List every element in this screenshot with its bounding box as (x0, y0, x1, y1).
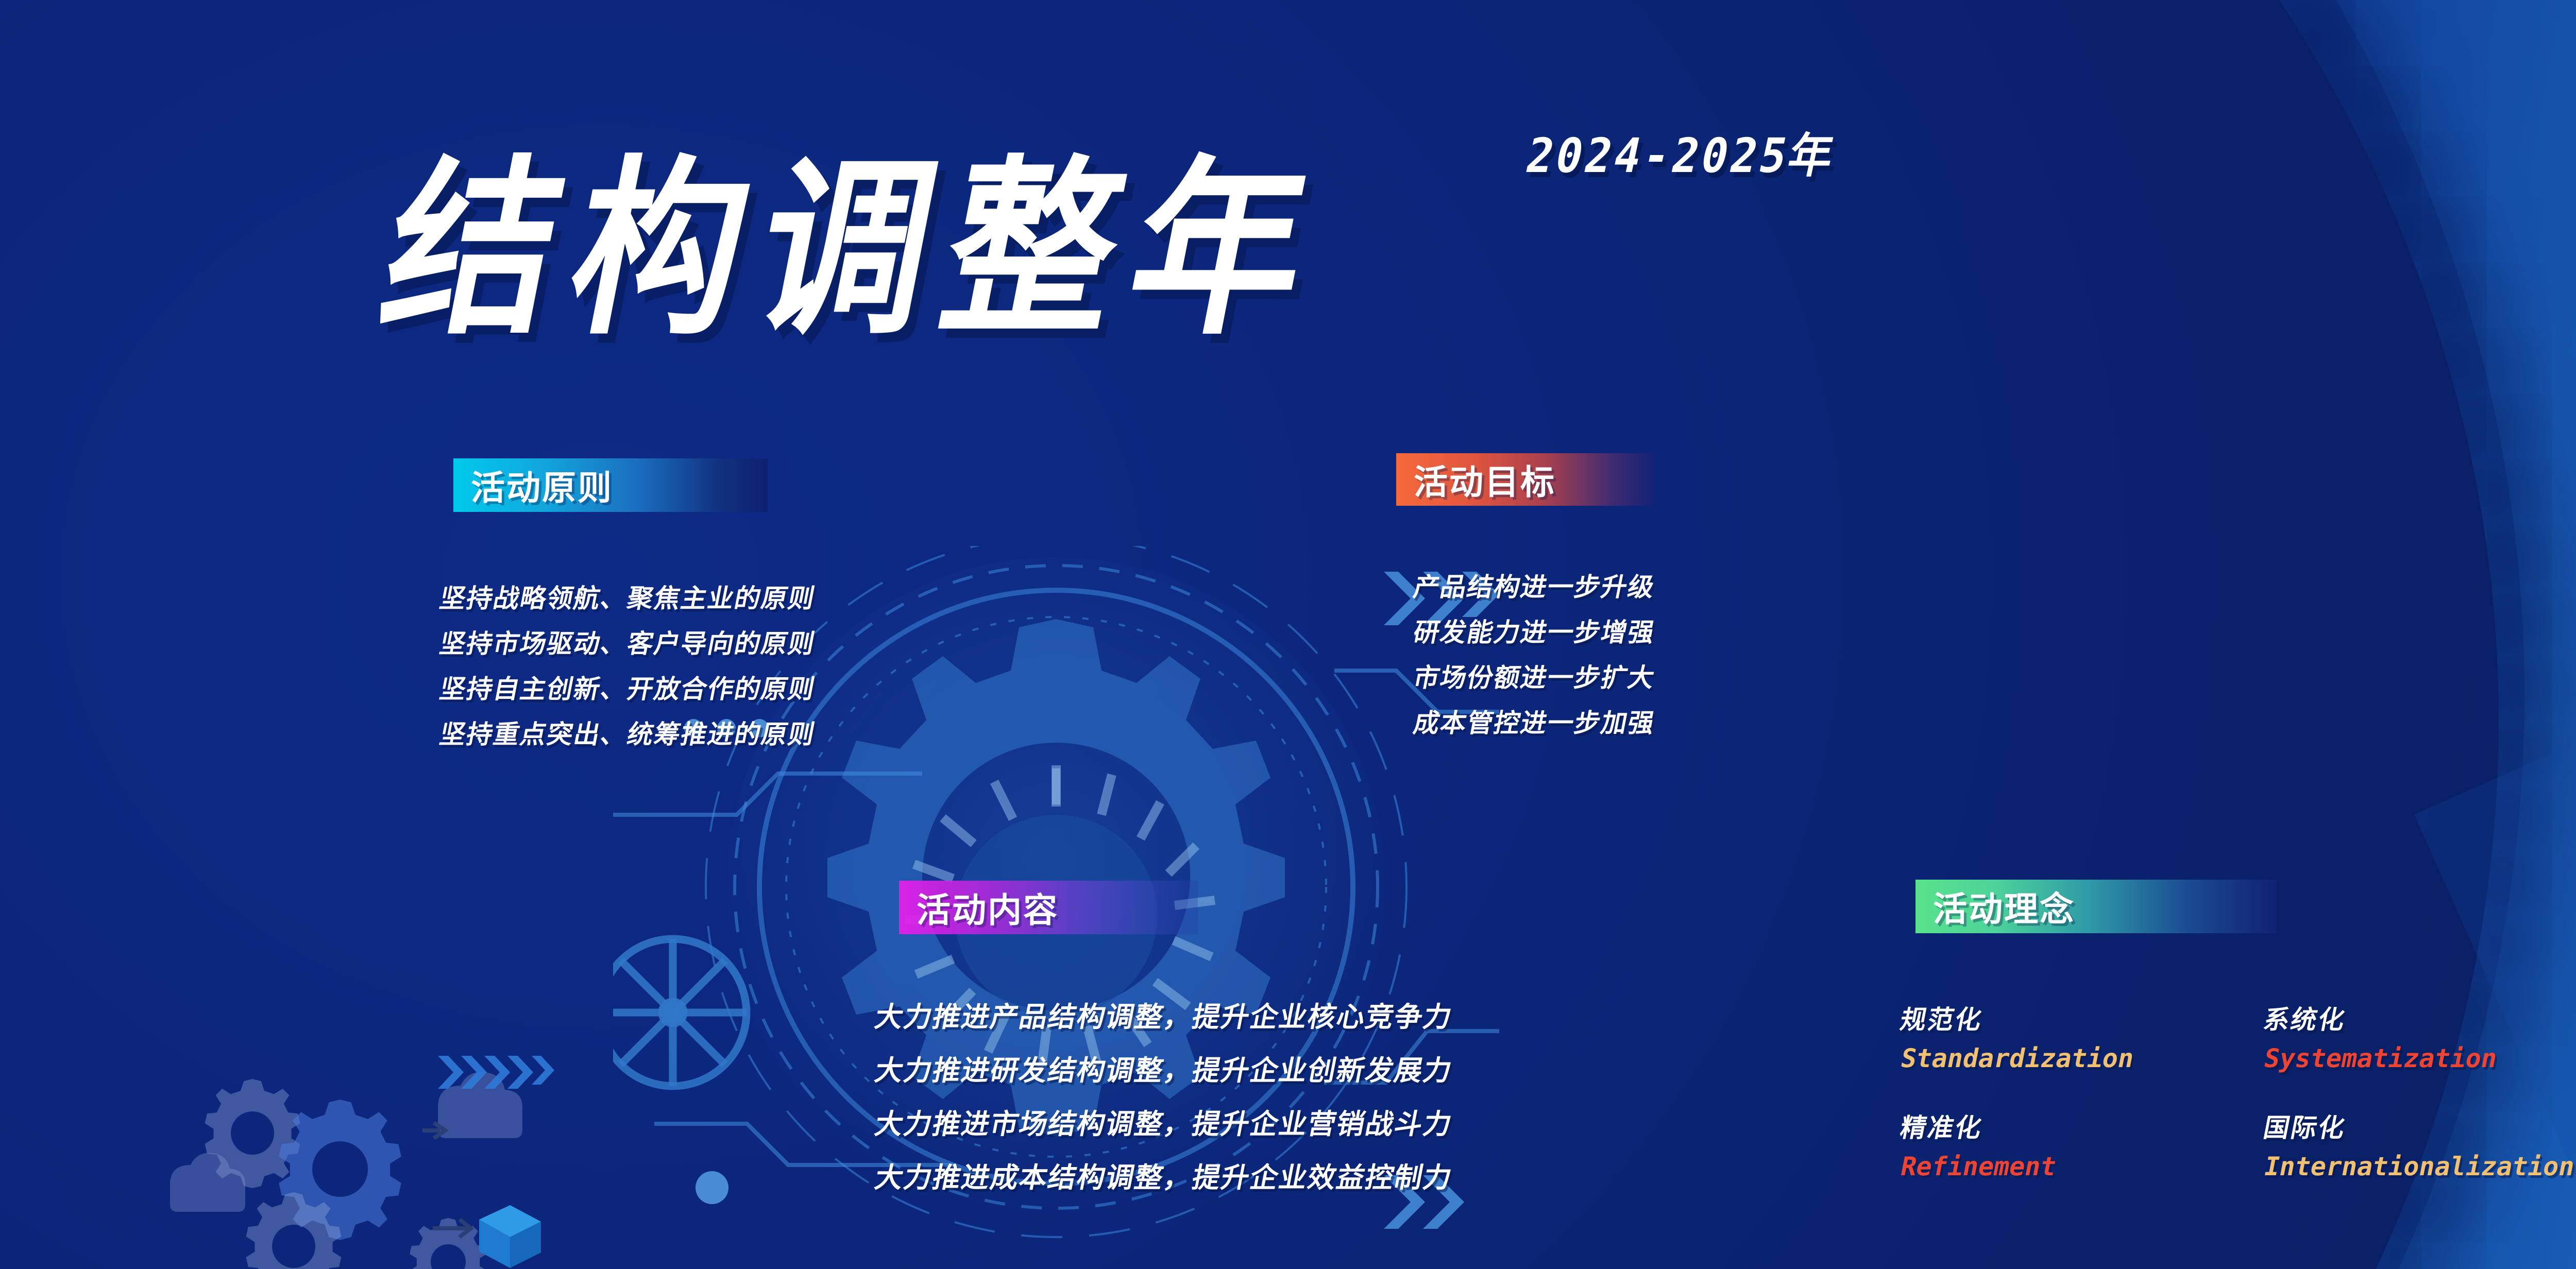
list-item: 坚持重点突出、统筹推进的原则 (437, 714, 819, 751)
slogan-rings-icon (2540, 196, 2576, 567)
list-item: 大力推进研发结构调整，提升企业创新发展力 (872, 1048, 1456, 1088)
list-item: 坚持自主创新、开放合作的原则 (437, 668, 819, 706)
badge-goals-label: 活动目标 (1414, 455, 1556, 504)
badge-goals: 活动目标 (1396, 453, 1654, 506)
list-item: 成本管控进一步加强 (1411, 702, 1659, 740)
philosophy-item-en: Systematization (2261, 1043, 2500, 1073)
philosophy-item: 国际化 Internationalization (2264, 1107, 2574, 1181)
poster-canvas: 2024-2025年 结构调整年 活动原则 坚持战略领航、聚焦主业的原则 坚持市… (0, 0, 2576, 1269)
philosophy-item-cn: 规范化 (1897, 999, 2138, 1036)
philosophy-item: 系统化 Systematization (2264, 999, 2497, 1073)
list-item: 坚持战略领航、聚焦主业的原则 (437, 578, 819, 615)
list-item: 大力推进市场结构调整，提升企业营销战斗力 (872, 1101, 1456, 1142)
philosophy-item: 精准化 Refinement (1901, 1107, 2056, 1181)
list-item: 研发能力进一步增强 (1411, 612, 1659, 649)
badge-content-label: 活动内容 (917, 883, 1059, 932)
philosophy-item-en: Standardization (1898, 1043, 2137, 1073)
badge-principles-label: 活动原则 (471, 460, 613, 510)
philosophy-item-en: Refinement (1898, 1152, 2059, 1181)
gear-cluster-icon (118, 1030, 659, 1269)
list-item: 坚持市场驱动、客户导向的原则 (437, 623, 819, 660)
philosophy-item-en: Internationalization (2261, 1152, 2576, 1181)
list-item: 大力推进成本结构调整，提升企业效益控制力 (872, 1155, 1456, 1195)
philosophy-item-cn: 系统化 (2261, 999, 2501, 1036)
badge-principles: 活动原则 (453, 458, 768, 512)
list-item: 产品结构进一步升级 (1411, 567, 1659, 604)
philosophy-item-cn: 精准化 (1897, 1107, 2060, 1144)
year-label: 2024-2025年 (1521, 117, 1844, 186)
philosophy-item: 规范化 Standardization (1901, 999, 2134, 1073)
list-item: 大力推进产品结构调整，提升企业核心竞争力 (872, 994, 1456, 1035)
badge-content: 活动内容 (899, 881, 1198, 934)
list-item: 市场份额进一步扩大 (1411, 657, 1659, 694)
philosophy-item-cn: 国际化 (2261, 1107, 2576, 1144)
badge-philosophy: 活动理念 (1916, 880, 2276, 933)
page-title: 结构调整年 (370, 155, 1340, 345)
badge-philosophy-label: 活动理念 (1933, 882, 2075, 931)
